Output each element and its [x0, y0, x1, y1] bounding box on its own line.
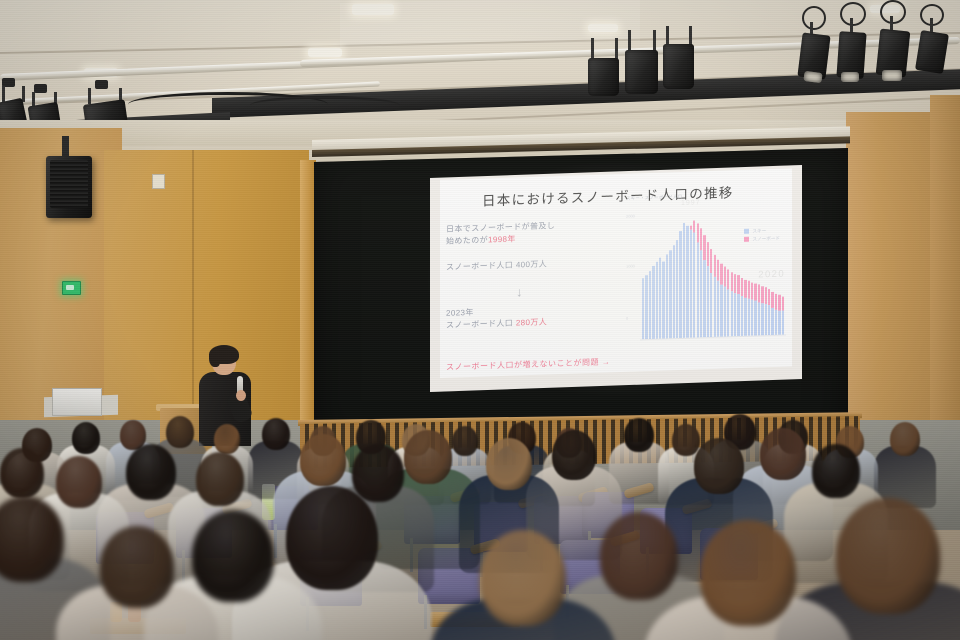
- audience-member-head: [100, 526, 174, 608]
- audience-member-head: [196, 452, 244, 506]
- chart-bar: [649, 271, 651, 339]
- chart-bar-segment-ski: [731, 292, 733, 337]
- audience-member-head: [552, 430, 596, 480]
- chart-bar-segment-snowboard: [758, 285, 760, 302]
- audience-member-head: [694, 438, 744, 494]
- chart-bar-segment-ski: [659, 258, 661, 339]
- chart-bar-segment-ski: [727, 289, 729, 336]
- chart-bar: [782, 296, 784, 335]
- chart-bar-segment-ski: [676, 240, 678, 338]
- chart-bar-segment-ski: [771, 308, 773, 335]
- chart-bar-segment-ski: [703, 260, 705, 338]
- chart-bar: [666, 254, 668, 338]
- chart-bar-segment-ski: [645, 275, 647, 339]
- audience-member-head: [700, 520, 796, 626]
- chart-annotation-1997: 1997: [681, 199, 701, 207]
- chart-ytick: 0: [626, 316, 628, 321]
- chart-bar: [717, 259, 719, 337]
- chart-bar-segment-ski: [673, 245, 675, 338]
- chart-bar-segment-ski: [748, 299, 750, 336]
- chart-bar-segment-ski: [693, 232, 695, 337]
- chart-bar-segment-snowboard: [737, 275, 739, 294]
- chart-bar: [683, 223, 685, 338]
- chart-bar-segment-snowboard: [724, 266, 726, 287]
- chart-bar-segment-snowboard: [744, 280, 746, 298]
- chart-bar: [693, 221, 695, 338]
- exit-sign: [62, 281, 81, 295]
- audience-member-head: [214, 424, 240, 454]
- slide-body-line2-prefix: 始めたのが: [446, 235, 488, 245]
- chart-bar-segment-snowboard: [782, 296, 784, 311]
- audience-member-head: [480, 530, 566, 626]
- audience-member-head: [262, 418, 290, 450]
- ceiling-light: [308, 48, 342, 57]
- chart-bar-segment-ski: [717, 281, 719, 337]
- wall-plate: [152, 174, 165, 189]
- chart-bar-segment-ski: [652, 266, 654, 339]
- chart-bar-segment-ski: [710, 272, 712, 337]
- chart-bar-segment-ski: [720, 285, 722, 337]
- chart-bar: [741, 278, 743, 336]
- presenter-hair-side: [209, 350, 220, 367]
- audience-member-head: [300, 434, 346, 486]
- audience-member-head: [452, 426, 478, 456]
- chart-bar-segment-ski: [768, 305, 770, 335]
- chart-bar-segment-snowboard: [778, 295, 780, 311]
- chart-bar: [642, 278, 644, 339]
- audience-member-head: [836, 498, 940, 614]
- chart-bar-segment-ski: [683, 223, 685, 338]
- audience-member-head: [0, 448, 44, 498]
- slide-body-line5-prefix: スノーボード人口: [446, 318, 516, 329]
- ceiling-light: [588, 24, 618, 32]
- slide-body-line5: スノーボード人口 280万人: [446, 316, 547, 331]
- chart-bar: [707, 242, 709, 338]
- chart-bar-segment-ski: [737, 294, 739, 336]
- audience-member-head: [126, 444, 176, 500]
- audience-member-head: [760, 428, 806, 480]
- chart-bar-segment-ski: [686, 226, 688, 338]
- chart-bar-segment-ski: [754, 301, 756, 336]
- chart-bar-segment-snowboard: [751, 282, 753, 299]
- audience-member-head: [72, 422, 100, 454]
- chart-legend: スキースノーボード: [744, 227, 780, 244]
- chart-bar-segment-ski: [744, 297, 746, 336]
- chart-bar-segment-ski: [697, 242, 699, 338]
- chart-bar: [656, 262, 658, 339]
- chart-bar: [679, 231, 681, 338]
- chart-bar-segment-ski: [758, 302, 760, 336]
- chart-bar-segment-ski: [761, 303, 763, 335]
- audience-member-head: [192, 510, 274, 602]
- chart-bar-segment-snowboard: [727, 269, 729, 289]
- chart-bar: [690, 226, 692, 338]
- chart-bar-segment-ski: [700, 251, 702, 338]
- audience-member-head: [890, 422, 920, 456]
- audience: [0, 400, 960, 640]
- chart-bar: [662, 261, 664, 339]
- chart-bar: [731, 272, 733, 336]
- chart-bar-segment-snowboard: [707, 242, 709, 266]
- chart-bar-segment-ski: [690, 230, 692, 338]
- speaker-grille: [50, 160, 88, 208]
- audience-member-head: [286, 486, 378, 590]
- chart-bar-segment-snowboard: [765, 287, 767, 304]
- chart-legend-label: スノーボード: [752, 236, 780, 242]
- ceiling-light: [352, 4, 394, 15]
- chart-bar-segment-ski: [679, 231, 681, 338]
- chart-legend-swatch: [744, 229, 749, 234]
- chart-bar: [676, 240, 678, 338]
- chart-bar-segment-snowboard: [720, 263, 722, 284]
- chart-bar: [673, 245, 675, 338]
- slide-value-280: 280万人: [516, 317, 547, 327]
- audience-member-head: [56, 456, 102, 508]
- audience-member-head: [812, 444, 860, 498]
- chart-bar-segment-snowboard: [731, 272, 733, 291]
- chart-bar: [771, 292, 773, 335]
- chart-bar: [744, 280, 746, 336]
- presentation-slide: 日本におけるスノーボード人口の推移 日本でスノーボードが普及し 始めたのが199…: [440, 168, 792, 378]
- chart-bar-segment-ski: [714, 277, 716, 337]
- wall-speaker: [46, 156, 92, 218]
- chart-bar-segment-ski: [707, 266, 709, 337]
- chart-bar-segment-snowboard: [693, 221, 695, 232]
- chart-bar: [686, 226, 688, 338]
- chart-bar-segment-snowboard: [754, 284, 756, 301]
- down-arrow-icon: ↓: [516, 284, 523, 299]
- speaker-bracket: [62, 136, 69, 158]
- chart-bar: [751, 282, 753, 335]
- audience-member-head: [352, 444, 404, 502]
- chart-bar-segment-snowboard: [710, 249, 712, 273]
- chart-bar-segment-snowboard: [741, 278, 743, 296]
- chart-bar: [778, 295, 780, 335]
- chart-bar-segment-ski: [782, 311, 784, 335]
- chart-bar: [720, 263, 722, 336]
- cable-run: [250, 96, 400, 115]
- chart-legend-label: スキー: [752, 228, 766, 233]
- chart-legend-swatch: [744, 237, 749, 242]
- chart-bar: [714, 255, 716, 337]
- audience-member-head: [404, 430, 452, 484]
- chart-bar: [645, 275, 647, 339]
- chart-bar: [652, 266, 654, 339]
- chart-bar-segment-snowboard: [748, 281, 750, 298]
- chart-bar: [768, 289, 770, 335]
- chart-bar-segment-ski: [775, 310, 777, 335]
- chart-bar-segment-snowboard: [717, 259, 719, 281]
- audience-member-head: [600, 512, 678, 600]
- slide-chart: スキー・スノーボード人口 2000 1000 0 1997 2020 スキースノ…: [626, 193, 786, 350]
- chart-bar-segment-snowboard: [771, 292, 773, 308]
- chart-bar-segment-ski: [666, 254, 668, 338]
- chart-bar-segment-snowboard: [697, 223, 699, 242]
- chart-bar-segment-snowboard: [734, 274, 736, 293]
- chart-bar-segment-ski: [649, 271, 651, 339]
- chart-bar-segment-ski: [669, 250, 671, 338]
- lecture-hall-photo: 日本におけるスノーボード人口の推移 日本でスノーボードが普及し 始めたのが199…: [0, 0, 960, 640]
- slide-year-1998: 1998年: [488, 234, 516, 244]
- audience-member-head: [166, 416, 194, 448]
- chart-bar: [758, 285, 760, 336]
- chart-bar-segment-ski: [778, 311, 780, 335]
- projection-area: 日本におけるスノーボード人口の推移 日本でスノーボードが普及し 始めたのが199…: [430, 165, 802, 392]
- chart-bar-segment-snowboard: [761, 286, 763, 303]
- slide-body-line4: 2023年: [446, 307, 474, 320]
- chart-bar-segment-ski: [765, 304, 767, 335]
- chart-title: スキー・スノーボード人口: [626, 194, 682, 202]
- chart-bar-segment-ski: [741, 296, 743, 336]
- chart-bar: [659, 258, 661, 339]
- chart-bar-segment-ski: [642, 278, 644, 339]
- chart-bar-segment-snowboard: [768, 289, 770, 305]
- audience-member-head: [624, 418, 654, 452]
- chart-bar: [734, 274, 736, 336]
- chart-bar: [761, 286, 763, 335]
- chart-bar-segment-snowboard: [700, 228, 702, 250]
- chart-bar: [724, 266, 726, 336]
- chart-ytick: 1000: [626, 264, 635, 269]
- audience-member-head: [672, 424, 700, 456]
- slide-footer: スノーボード人口が増えないことが問題 →: [446, 356, 610, 372]
- audience-member-head: [486, 438, 532, 490]
- chart-bar-segment-snowboard: [703, 235, 705, 260]
- chart-bar-segment-ski: [724, 287, 726, 337]
- chart-bar: [727, 269, 729, 336]
- chart-bar: [765, 287, 767, 335]
- chart-bar-segment-ski: [656, 262, 658, 339]
- chart-bar-segment-ski: [751, 300, 753, 336]
- chart-bar: [697, 223, 699, 337]
- chart-bar-segment-snowboard: [775, 294, 777, 310]
- chart-bar: [737, 275, 739, 336]
- chart-bar: [748, 281, 750, 336]
- chart-bar: [700, 228, 702, 337]
- slide-body-line3: スノーボード人口 400万人: [446, 258, 547, 273]
- chart-bar: [754, 284, 756, 336]
- chart-legend-item: スノーボード: [744, 235, 780, 244]
- chart-bar: [703, 235, 705, 337]
- chart-bar: [775, 294, 777, 335]
- chart-bar: [710, 249, 712, 337]
- chart-bar-segment-ski: [662, 261, 664, 339]
- chart-bar: [669, 250, 671, 338]
- chart-bar-segment-snowboard: [714, 255, 716, 277]
- slide-body-line2: 始めたのが1998年: [446, 233, 516, 247]
- chart-ytick: 2000: [626, 214, 635, 219]
- chart-bar-segment-ski: [734, 293, 736, 336]
